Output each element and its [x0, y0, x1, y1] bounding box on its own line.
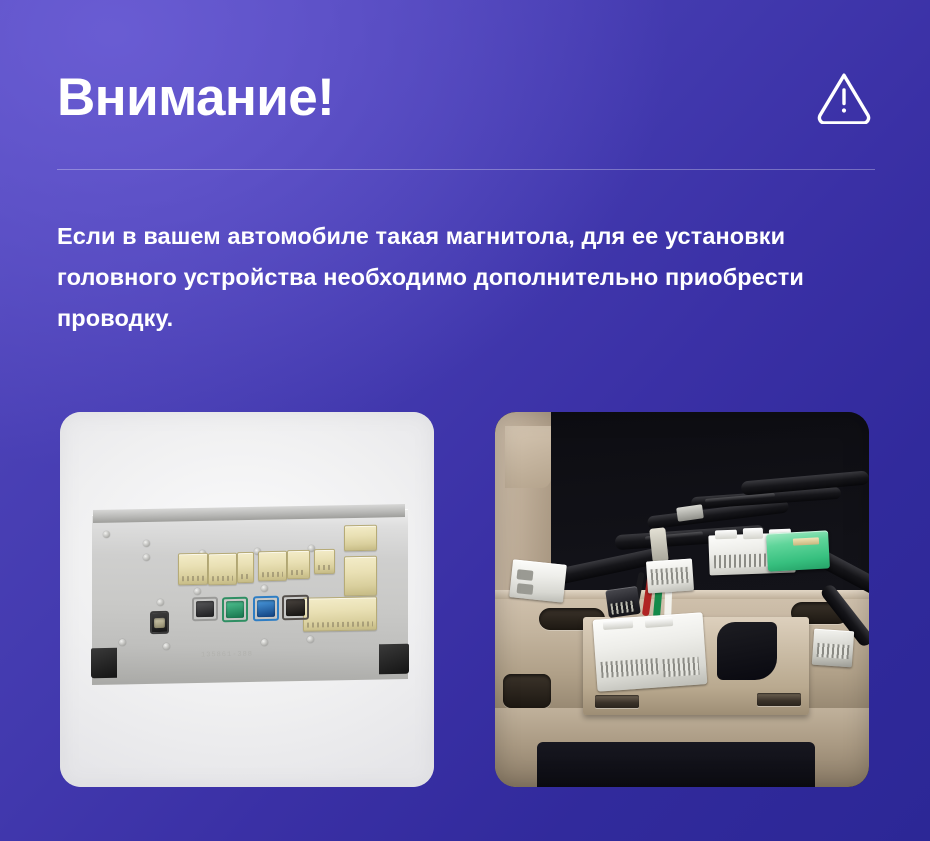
- connector-pin-block: [517, 583, 534, 595]
- connector-latch: [715, 530, 737, 540]
- wiring-harness-photo: [495, 412, 869, 787]
- chassis-screw: [157, 599, 164, 606]
- tape-wrap: [649, 527, 668, 562]
- chassis-screw: [261, 639, 268, 646]
- warning-triangle-icon: [815, 69, 873, 127]
- dash-tray-hole: [717, 622, 777, 680]
- cream-connector: [314, 549, 335, 574]
- head-unit-rear-photo-card: 135861-388: [60, 412, 434, 787]
- antenna-pin: [154, 618, 165, 628]
- blue-port: [257, 600, 275, 617]
- green-port: [226, 601, 244, 618]
- white-connector-left: [509, 559, 567, 602]
- page-title: Внимание!: [57, 70, 334, 126]
- head-unit-rear-photo: 135861-388: [60, 412, 434, 787]
- chassis-corner-right: [379, 644, 409, 675]
- black-port: [196, 601, 214, 617]
- cream-connector: [344, 525, 377, 552]
- cream-connector: [258, 551, 287, 582]
- white-connector-pins: [817, 643, 850, 659]
- chassis-screw: [143, 554, 150, 561]
- warning-banner: Внимание! Если в вашем автомобиле такая …: [0, 0, 930, 841]
- banner-header: Внимание!: [57, 52, 875, 144]
- cream-connector: [178, 553, 208, 586]
- white-connector-pins: [662, 657, 699, 677]
- chassis-screw: [163, 643, 170, 650]
- connector-latch: [645, 617, 674, 628]
- chassis-part-number: 135861-388: [201, 651, 253, 660]
- tray-slot: [757, 693, 801, 706]
- cream-connector-large: [303, 596, 377, 631]
- dash-left-notch: [505, 426, 551, 488]
- chassis-screw: [261, 585, 268, 592]
- body-copy: Если в вашем автомобиле такая магнитола,…: [57, 216, 887, 339]
- dark-port: [286, 599, 305, 616]
- chassis-corner-left: [91, 648, 117, 678]
- cream-connector: [344, 556, 377, 597]
- chassis-screw: [194, 588, 201, 595]
- body-line-1: Если в вашем автомобиле такая магнитола,…: [57, 216, 887, 257]
- wiring-harness-photo-card: [495, 412, 869, 787]
- dash-lower-gap: [537, 742, 815, 787]
- connector-pin-block: [517, 569, 534, 581]
- green-connector: [766, 530, 830, 571]
- body-line-2: головного устройства необходимо дополнит…: [57, 257, 887, 298]
- connector-latch: [743, 528, 763, 540]
- cream-connector: [208, 553, 237, 586]
- chassis-screw: [103, 531, 110, 538]
- head-unit-device: 135861-388: [91, 508, 411, 698]
- cream-connector: [287, 550, 310, 579]
- chassis-screw: [143, 540, 150, 547]
- body-line-3: проводку.: [57, 298, 887, 339]
- white-connector-pins: [650, 567, 689, 586]
- chassis-screw: [119, 639, 126, 646]
- chassis-screw: [307, 636, 314, 643]
- dash-opening: [503, 674, 551, 708]
- header-divider: [57, 169, 875, 170]
- green-connector-key: [793, 537, 819, 545]
- tray-slot: [595, 695, 639, 708]
- cream-connector: [237, 552, 254, 583]
